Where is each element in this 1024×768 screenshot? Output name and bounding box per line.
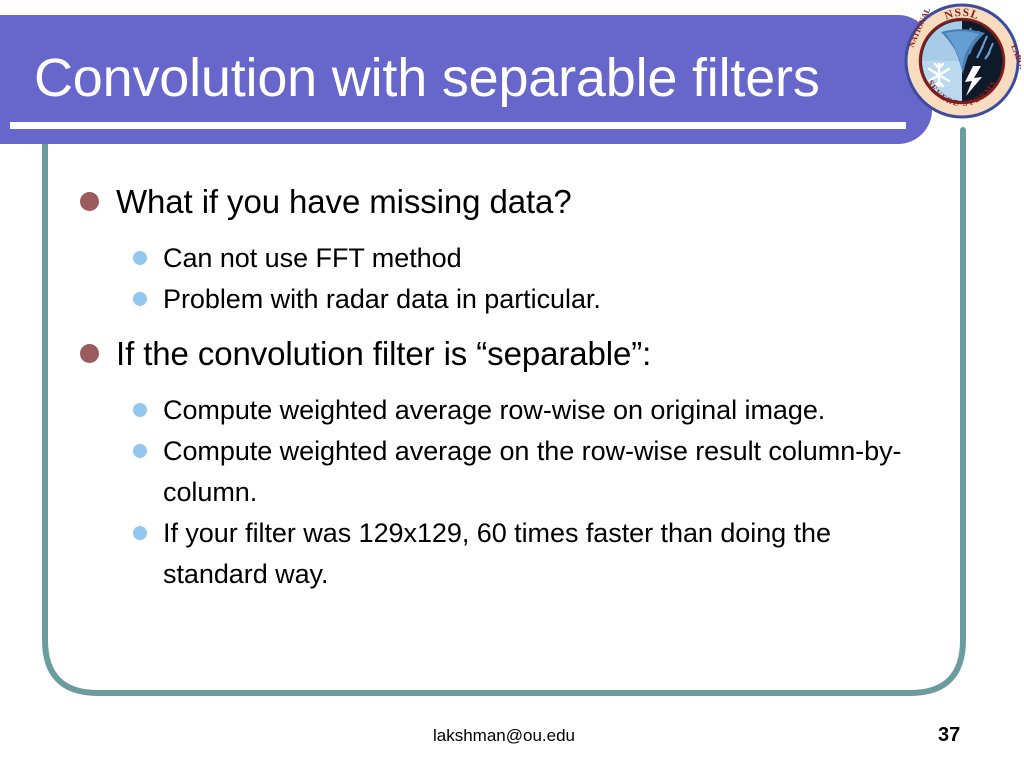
footer-page-number: 37 <box>938 724 960 747</box>
bullet-marker-level2-icon <box>133 526 147 540</box>
bullet-marker-level2-icon <box>133 444 147 458</box>
bullet-level2: Compute weighted average row-wise on ori… <box>0 390 1000 431</box>
bullet-text: Compute weighted average row-wise on ori… <box>163 390 825 431</box>
bullet-marker-level1-icon <box>80 344 99 363</box>
bullet-marker-level2-icon <box>133 403 147 417</box>
bullet-text: Compute weighted average on the row-wise… <box>163 431 933 513</box>
slide-body: What if you have missing data? Can not u… <box>0 178 1000 595</box>
footer-email: lakshman@ou.edu <box>433 726 575 746</box>
bullet-level1: If the convolution filter is “separable”… <box>0 330 1000 378</box>
bullet-level2: If your filter was 129x129, 60 times fas… <box>0 513 1000 595</box>
bullet-text: If your filter was 129x129, 60 times fas… <box>163 513 933 595</box>
bullet-marker-level2-icon <box>133 251 147 265</box>
bullet-level2: Can not use FFT method <box>0 238 1000 279</box>
bullet-text: If the convolution filter is “separable”… <box>116 330 651 378</box>
bullet-text: What if you have missing data? <box>116 178 572 226</box>
bullet-level1: What if you have missing data? <box>0 178 1000 226</box>
page-title: Convolution with separable filters <box>34 40 914 116</box>
header-underline-rule <box>10 122 906 129</box>
bullet-marker-level1-icon <box>80 192 99 211</box>
bullet-marker-level2-icon <box>133 292 147 306</box>
bullet-text: Problem with radar data in particular. <box>163 279 601 320</box>
nssl-seal-logo: NSSL SEVERE STORMS NATIONAL LABORATORY <box>903 2 1021 120</box>
bullet-text: Can not use FFT method <box>163 238 462 279</box>
slide-canvas: Convolution with separable filters <box>0 0 1024 768</box>
bullet-level2: Problem with radar data in particular. <box>0 279 1000 320</box>
bullet-level2: Compute weighted average on the row-wise… <box>0 431 1000 513</box>
